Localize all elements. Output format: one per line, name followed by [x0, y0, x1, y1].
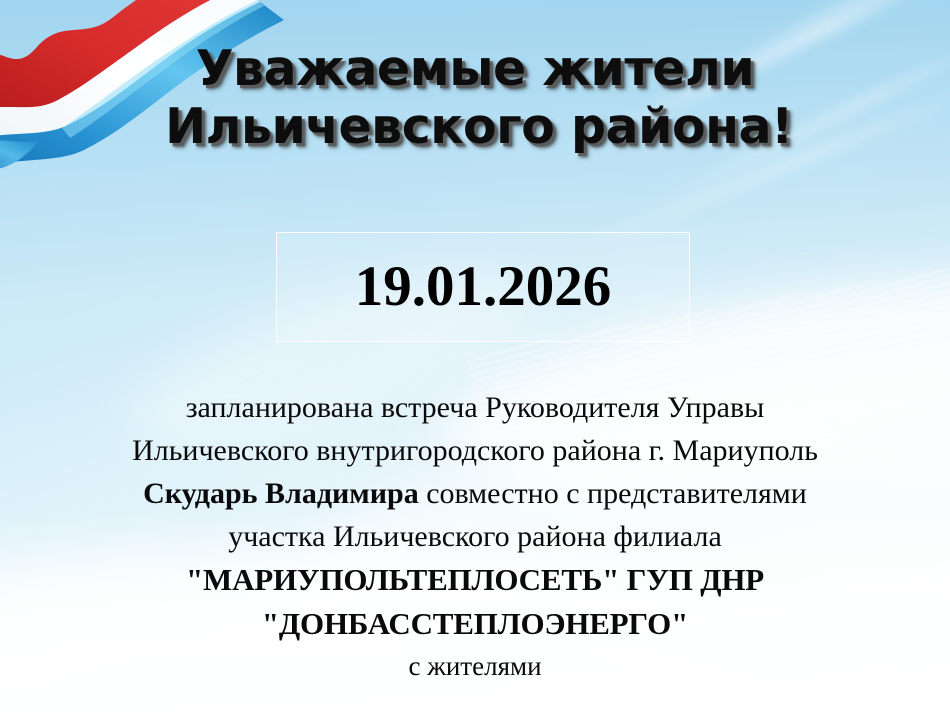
body-line-1: запланирована встреча Руководителя Управ…: [0, 386, 950, 429]
body-line-5-company: "МАРИУПОЛЬТЕПЛОСЕТЬ" ГУП ДНР: [0, 558, 950, 602]
body-line-7: с жителями: [0, 646, 950, 686]
announcement-body: запланирована встреча Руководителя Управ…: [0, 386, 950, 686]
announcement-poster: Уважаемые жители Ильичевского района! 19…: [0, 0, 950, 720]
body-line-2: Ильичевского внутригородского района г. …: [0, 429, 950, 472]
body-line-3: Скударь Владимира совместно с представит…: [0, 472, 950, 515]
official-name: Скударь Владимира: [143, 477, 419, 510]
body-line-3-rest: совместно с представителями: [419, 477, 807, 510]
page-title: Уважаемые жители Ильичевского района!: [0, 40, 950, 156]
page-title-line-1: Уважаемые жители: [0, 40, 950, 98]
date-box: 19.01.2026: [276, 232, 690, 342]
body-line-4: участка Ильичевского района филиала: [0, 515, 950, 558]
meeting-date: 19.01.2026: [355, 257, 612, 317]
page-title-line-2: Ильичевского района!: [0, 98, 950, 156]
body-line-6-company: "ДОНБАССТЕПЛОЭНЕРГО": [0, 602, 950, 646]
